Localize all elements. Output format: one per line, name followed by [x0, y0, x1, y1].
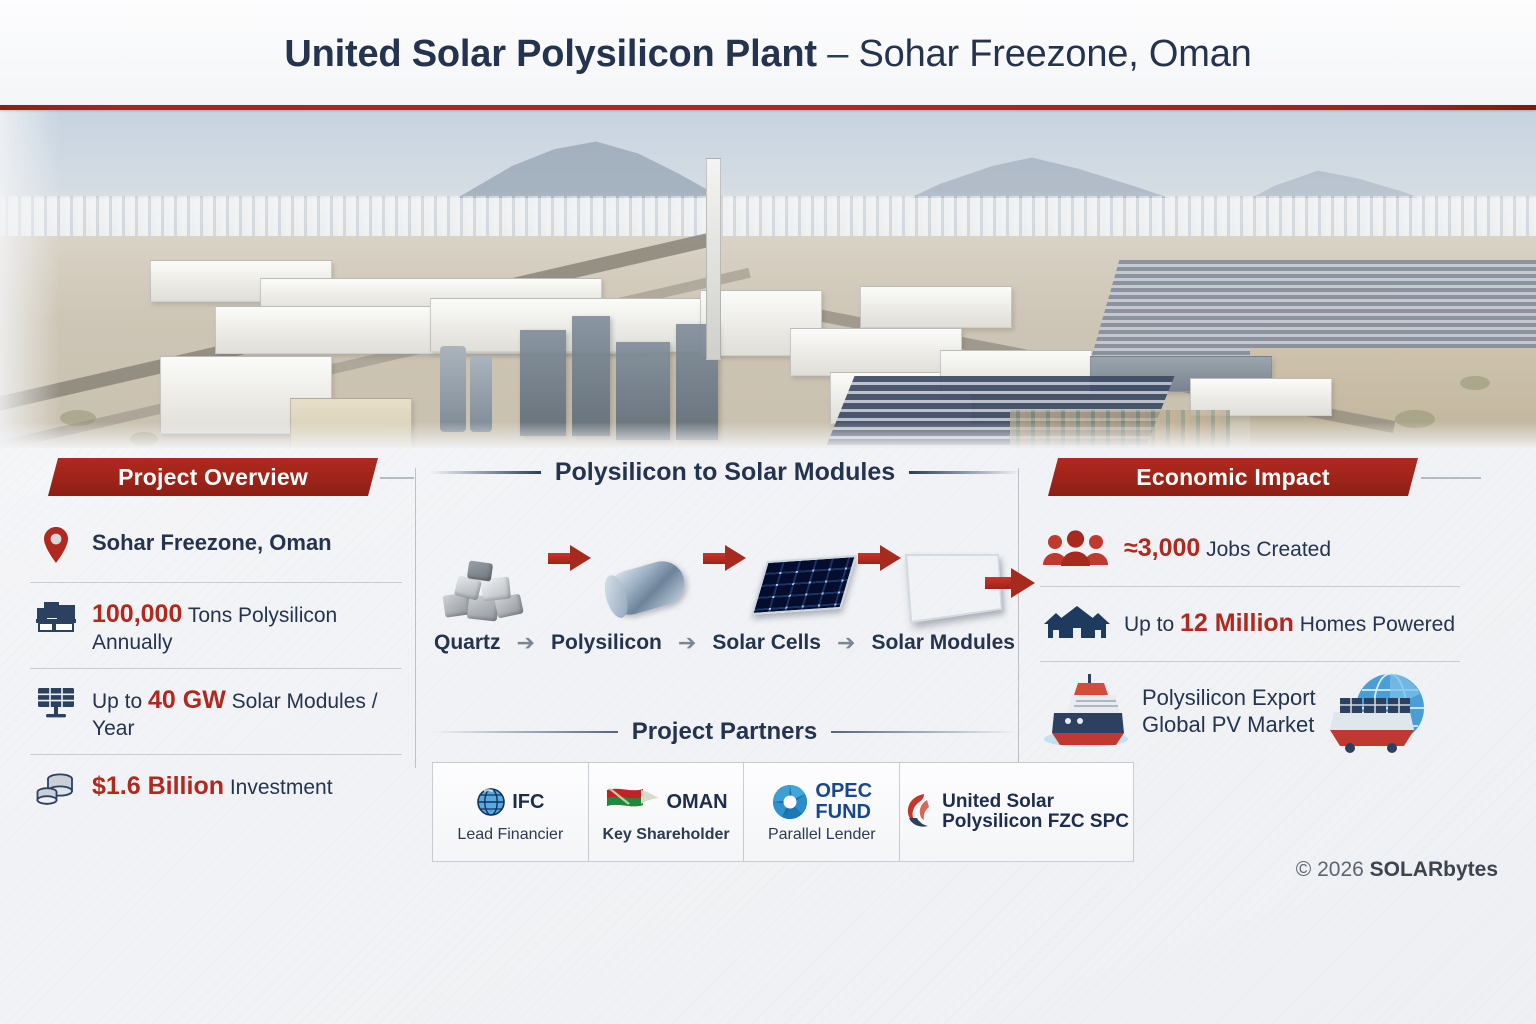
investment-value: $1.6 Billion	[92, 772, 224, 800]
investment-label: Investment	[224, 776, 333, 799]
module-output-lead: Up to	[92, 690, 148, 713]
ribbon-tail	[380, 477, 414, 479]
capacity-text: 100,000 Tons Polysilicon Annually	[92, 596, 337, 655]
project-overview-list: Sohar Freezone, Oman 100,000 Tons Polysi…	[30, 512, 402, 825]
section-header-economic-impact: Economic Impact	[1048, 458, 1418, 496]
infographic-page: United Solar Polysilicon Plant – Sohar F…	[0, 0, 1536, 1024]
process-step-label-quartz: Quartz	[434, 631, 501, 655]
united-solar-icon	[904, 792, 936, 832]
list-item-export: Polysilicon Export Global PV Market	[1040, 662, 1460, 760]
content-area: Project Overview Sohar Freezone, Oman	[0, 450, 1536, 1024]
heading-rule-left	[432, 731, 618, 733]
partner-logo-row: IFC	[476, 780, 544, 824]
opec-line-2: FUND	[815, 801, 871, 823]
solar-panel-icon	[34, 682, 78, 722]
process-step-label-solar-cells: Solar Cells	[712, 631, 821, 655]
partner-name-united-solar: United Solar Polysilicon FZC SPC	[942, 792, 1129, 831]
process-step-label-polysilicon: Polysilicon	[551, 631, 662, 655]
investment-text: $1.6 Billion Investment	[92, 768, 333, 802]
flow-arrow-icon	[548, 545, 592, 571]
heading-rule-right	[831, 731, 1017, 733]
export-line-2: Global PV Market	[1142, 712, 1314, 737]
partner-ifc[interactable]: IFC Lead Financier	[433, 763, 589, 861]
polysilicon-ingot-icon	[593, 526, 701, 626]
map-pin-icon	[34, 525, 78, 565]
economic-impact-title: Economic Impact	[1136, 464, 1329, 491]
module-output-value: 40 GW	[148, 686, 226, 714]
photo-chimney	[706, 158, 721, 360]
column-divider-left	[415, 468, 416, 768]
partners-title: Project Partners	[632, 718, 817, 746]
column-divider-right	[1018, 468, 1019, 768]
process-title: Polysilicon to Solar Modules	[555, 458, 895, 487]
photo-bottom-fade	[0, 422, 1536, 448]
capacity-value: 100,000	[92, 600, 182, 628]
title-subtitle: Sohar Freezone, Oman	[859, 33, 1252, 75]
flow-arrow-icon	[703, 545, 747, 571]
partner-name-oman: OMAN	[667, 792, 728, 813]
jobs-value: ≈3,000	[1124, 534, 1200, 562]
copyright-footer: © 2026 SOLARbytes	[1296, 858, 1498, 882]
brand-name: SOLARbytes	[1370, 858, 1498, 881]
solar-cell-icon	[748, 526, 856, 626]
partner-role-oman: Key Shareholder	[602, 826, 729, 844]
partner-role-opec-fund: Parallel Lender	[768, 826, 876, 844]
module-output-text: Up to 40 GW Solar Modules / Year	[92, 682, 400, 741]
export-line-1: Polysilicon Export	[1142, 685, 1316, 710]
list-item-investment: $1.6 Billion Investment	[30, 755, 402, 825]
title-separator: –	[817, 33, 859, 75]
photo-process-unit	[572, 316, 610, 436]
partner-logo-row: OPEC FUND	[771, 780, 872, 824]
location-text: Sohar Freezone, Oman	[92, 525, 332, 557]
list-item-homes: Up to 12 Million Homes Powered	[1040, 587, 1460, 662]
list-item-module-output: Up to 40 GW Solar Modules / Year	[30, 669, 402, 755]
united-solar-line-1: United Solar	[942, 791, 1054, 812]
partner-name-opec-fund: OPEC FUND	[815, 781, 872, 822]
jobs-label: Jobs Created	[1200, 538, 1331, 561]
header-red-rule	[0, 105, 1536, 110]
globe-container-ship-icon	[1324, 668, 1434, 754]
homes-text: Up to 12 Million Homes Powered	[1124, 608, 1455, 639]
photo-edge-fade	[0, 110, 60, 448]
flow-arrow-icon	[858, 545, 902, 571]
photo-vegetation	[1460, 376, 1490, 390]
list-item-capacity: 100,000 Tons Polysilicon Annually	[30, 583, 402, 669]
ifc-globe-icon	[476, 787, 506, 817]
process-step-label-solar-modules: Solar Modules	[871, 631, 1015, 655]
houses-icon	[1042, 601, 1112, 647]
coin-stack-icon	[34, 768, 78, 808]
list-item-jobs: ≈3,000 Jobs Created	[1040, 512, 1460, 587]
partner-logo-row: OMAN	[605, 780, 728, 824]
plant-aerial-photo	[0, 110, 1536, 448]
oman-flag-icon	[605, 784, 661, 820]
heading-rule-left	[430, 471, 541, 474]
arrow-glyph-icon: ➔	[835, 630, 857, 656]
opec-line-1: OPEC	[815, 780, 872, 802]
partner-role-ifc: Lead Financier	[457, 826, 563, 844]
list-item-location: Sohar Freezone, Oman	[30, 512, 402, 583]
partner-name-ifc: IFC	[512, 792, 544, 813]
ribbon-tail	[1421, 477, 1481, 479]
homes-value: 12 Million	[1180, 609, 1294, 637]
partner-logo-row: United Solar Polysilicon FZC SPC	[904, 786, 1129, 838]
title-main: United Solar Polysilicon Plant	[284, 33, 816, 75]
capacity-period: Annually	[92, 631, 173, 654]
quartz-rocks-icon	[438, 526, 546, 626]
arrow-glyph-icon: ➔	[515, 630, 537, 656]
arrow-glyph-icon: ➔	[676, 630, 698, 656]
process-flow-labels: Quartz ➔ Polysilicon ➔ Solar Cells ➔ Sol…	[432, 630, 1017, 656]
heading-rule-right	[909, 471, 1020, 474]
process-flow-icons	[432, 516, 1017, 626]
partners-list: IFC Lead Financier OMAN	[432, 762, 1134, 862]
page-header: United Solar Polysilicon Plant – Sohar F…	[0, 0, 1536, 108]
photo-solar-farm-far	[1091, 260, 1536, 360]
section-header-process: Polysilicon to Solar Modules	[430, 458, 1020, 487]
section-header-project-overview: Project Overview	[48, 458, 378, 496]
page-title: United Solar Polysilicon Plant – Sohar F…	[284, 35, 1251, 73]
process-flow: Quartz ➔ Polysilicon ➔ Solar Cells ➔ Sol…	[432, 516, 1017, 656]
photo-storage-tank	[470, 356, 492, 432]
homes-lead: Up to	[1124, 613, 1180, 636]
opec-fund-icon	[771, 783, 809, 821]
cargo-ship-globe-icon	[1042, 673, 1134, 749]
partner-united-solar[interactable]: United Solar Polysilicon FZC SPC	[900, 763, 1133, 861]
united-solar-line-2: Polysilicon FZC SPC	[942, 811, 1129, 832]
photo-building	[860, 286, 1012, 328]
partner-opec-fund[interactable]: OPEC FUND Parallel Lender	[744, 763, 900, 861]
project-overview-title: Project Overview	[118, 464, 308, 491]
photo-process-unit	[520, 330, 566, 436]
partner-oman[interactable]: OMAN Key Shareholder	[589, 763, 745, 861]
economic-impact-list: ≈3,000 Jobs Created	[1040, 512, 1460, 760]
flow-to-impact-arrow-icon	[985, 568, 1039, 598]
homes-label: Homes Powered	[1294, 613, 1455, 636]
copyright-text: © 2026	[1296, 858, 1370, 881]
capacity-unit: Tons Polysilicon	[182, 604, 337, 627]
photo-storage-tank	[440, 346, 466, 432]
jobs-text: ≈3,000 Jobs Created	[1124, 533, 1331, 564]
photo-building	[790, 328, 962, 376]
people-group-icon	[1042, 526, 1112, 572]
section-header-partners: Project Partners	[432, 718, 1017, 746]
export-text: Polysilicon Export Global PV Market	[1142, 684, 1316, 739]
factory-icon	[34, 596, 78, 636]
